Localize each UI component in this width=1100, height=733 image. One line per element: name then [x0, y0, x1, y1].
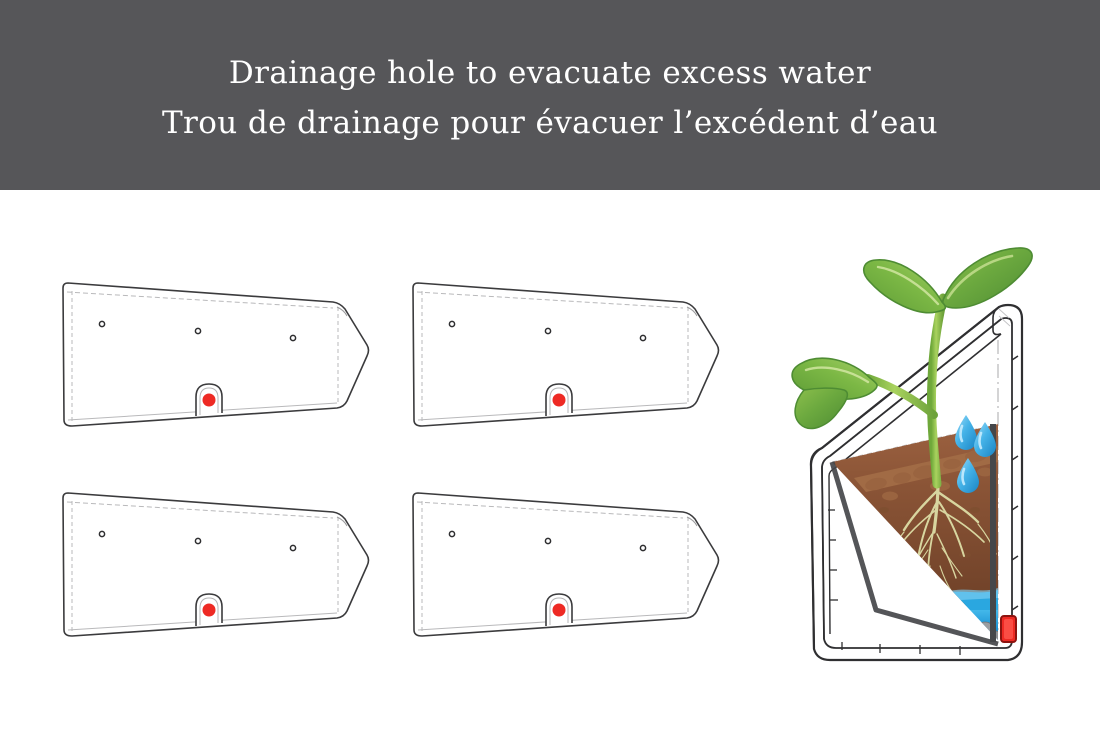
header-banner: Drainage hole to evacuate excess water T… — [0, 0, 1100, 190]
planter-cross-section[interactable] — [780, 210, 1100, 710]
planter-panel-bottom-right[interactable] — [400, 480, 740, 660]
planter-panel-top-left[interactable] — [50, 270, 390, 450]
planter-panel-bottom-left[interactable] — [50, 480, 390, 660]
planter-panel-top-right[interactable] — [400, 270, 740, 450]
drain-hole-marker-group — [1001, 616, 1016, 642]
infographic-page: Drainage hole to evacuate excess water T… — [0, 0, 1100, 733]
header-title-fr: Trou de drainage pour évacuer l’excédent… — [162, 98, 938, 148]
header-title-en: Drainage hole to evacuate excess water — [229, 48, 871, 98]
illustration-stage — [0, 190, 1100, 733]
